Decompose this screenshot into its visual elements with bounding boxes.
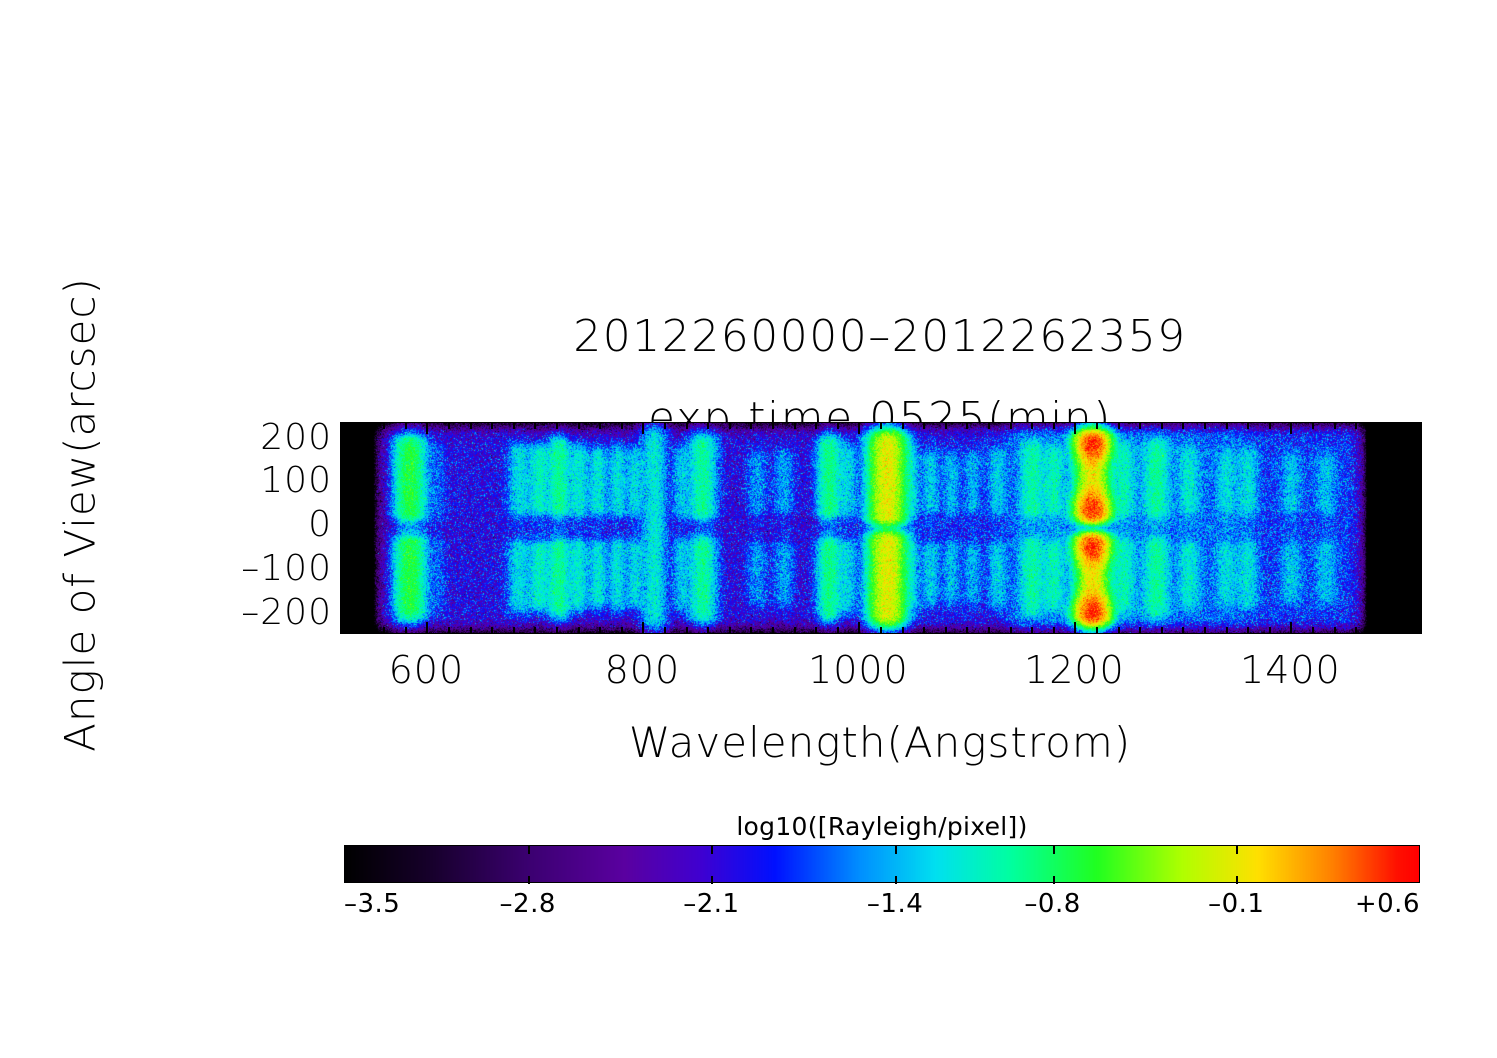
figure-root: 2012260000–2012262359 exp time 0525(min)…	[0, 0, 1497, 1058]
y-tick-label: 200	[260, 420, 332, 456]
y-tick-label: 100	[260, 463, 332, 499]
colorbar-tick-label: –0.8	[1024, 889, 1080, 919]
spectrogram-plot	[340, 422, 1422, 634]
colorbar-tick-label: –3.5	[344, 889, 400, 919]
y-tick-label: –200	[241, 595, 332, 631]
x-tick-label: 1400	[1240, 648, 1341, 692]
colorbar-tick-label: +0.6	[1355, 889, 1420, 919]
colorbar-tick-label: –2.1	[683, 889, 739, 919]
colorbar-tick-label: –1.4	[867, 889, 923, 919]
colorbar-gradient	[345, 846, 1419, 882]
colorbar-tick-label: –0.1	[1208, 889, 1264, 919]
x-tick-label: 1200	[1024, 648, 1125, 692]
x-tick-label: 600	[389, 648, 465, 692]
x-tick-label: 800	[605, 648, 681, 692]
x-tick-label: 1000	[808, 648, 909, 692]
y-tick-label: –100	[241, 551, 332, 587]
colorbar-title: log10([Rayleigh/pixel])	[344, 812, 1420, 841]
x-axis-title: Wavelength(Angstrom)	[340, 718, 1420, 767]
colorbar	[344, 845, 1420, 883]
title-line-1: 2012260000–2012262359	[340, 313, 1420, 361]
spectrogram-image	[341, 423, 1421, 633]
colorbar-tick-label: –2.8	[500, 889, 556, 919]
y-axis-title: Angle of View(arcsec)	[56, 265, 105, 765]
y-tick-label: 0	[308, 507, 332, 543]
